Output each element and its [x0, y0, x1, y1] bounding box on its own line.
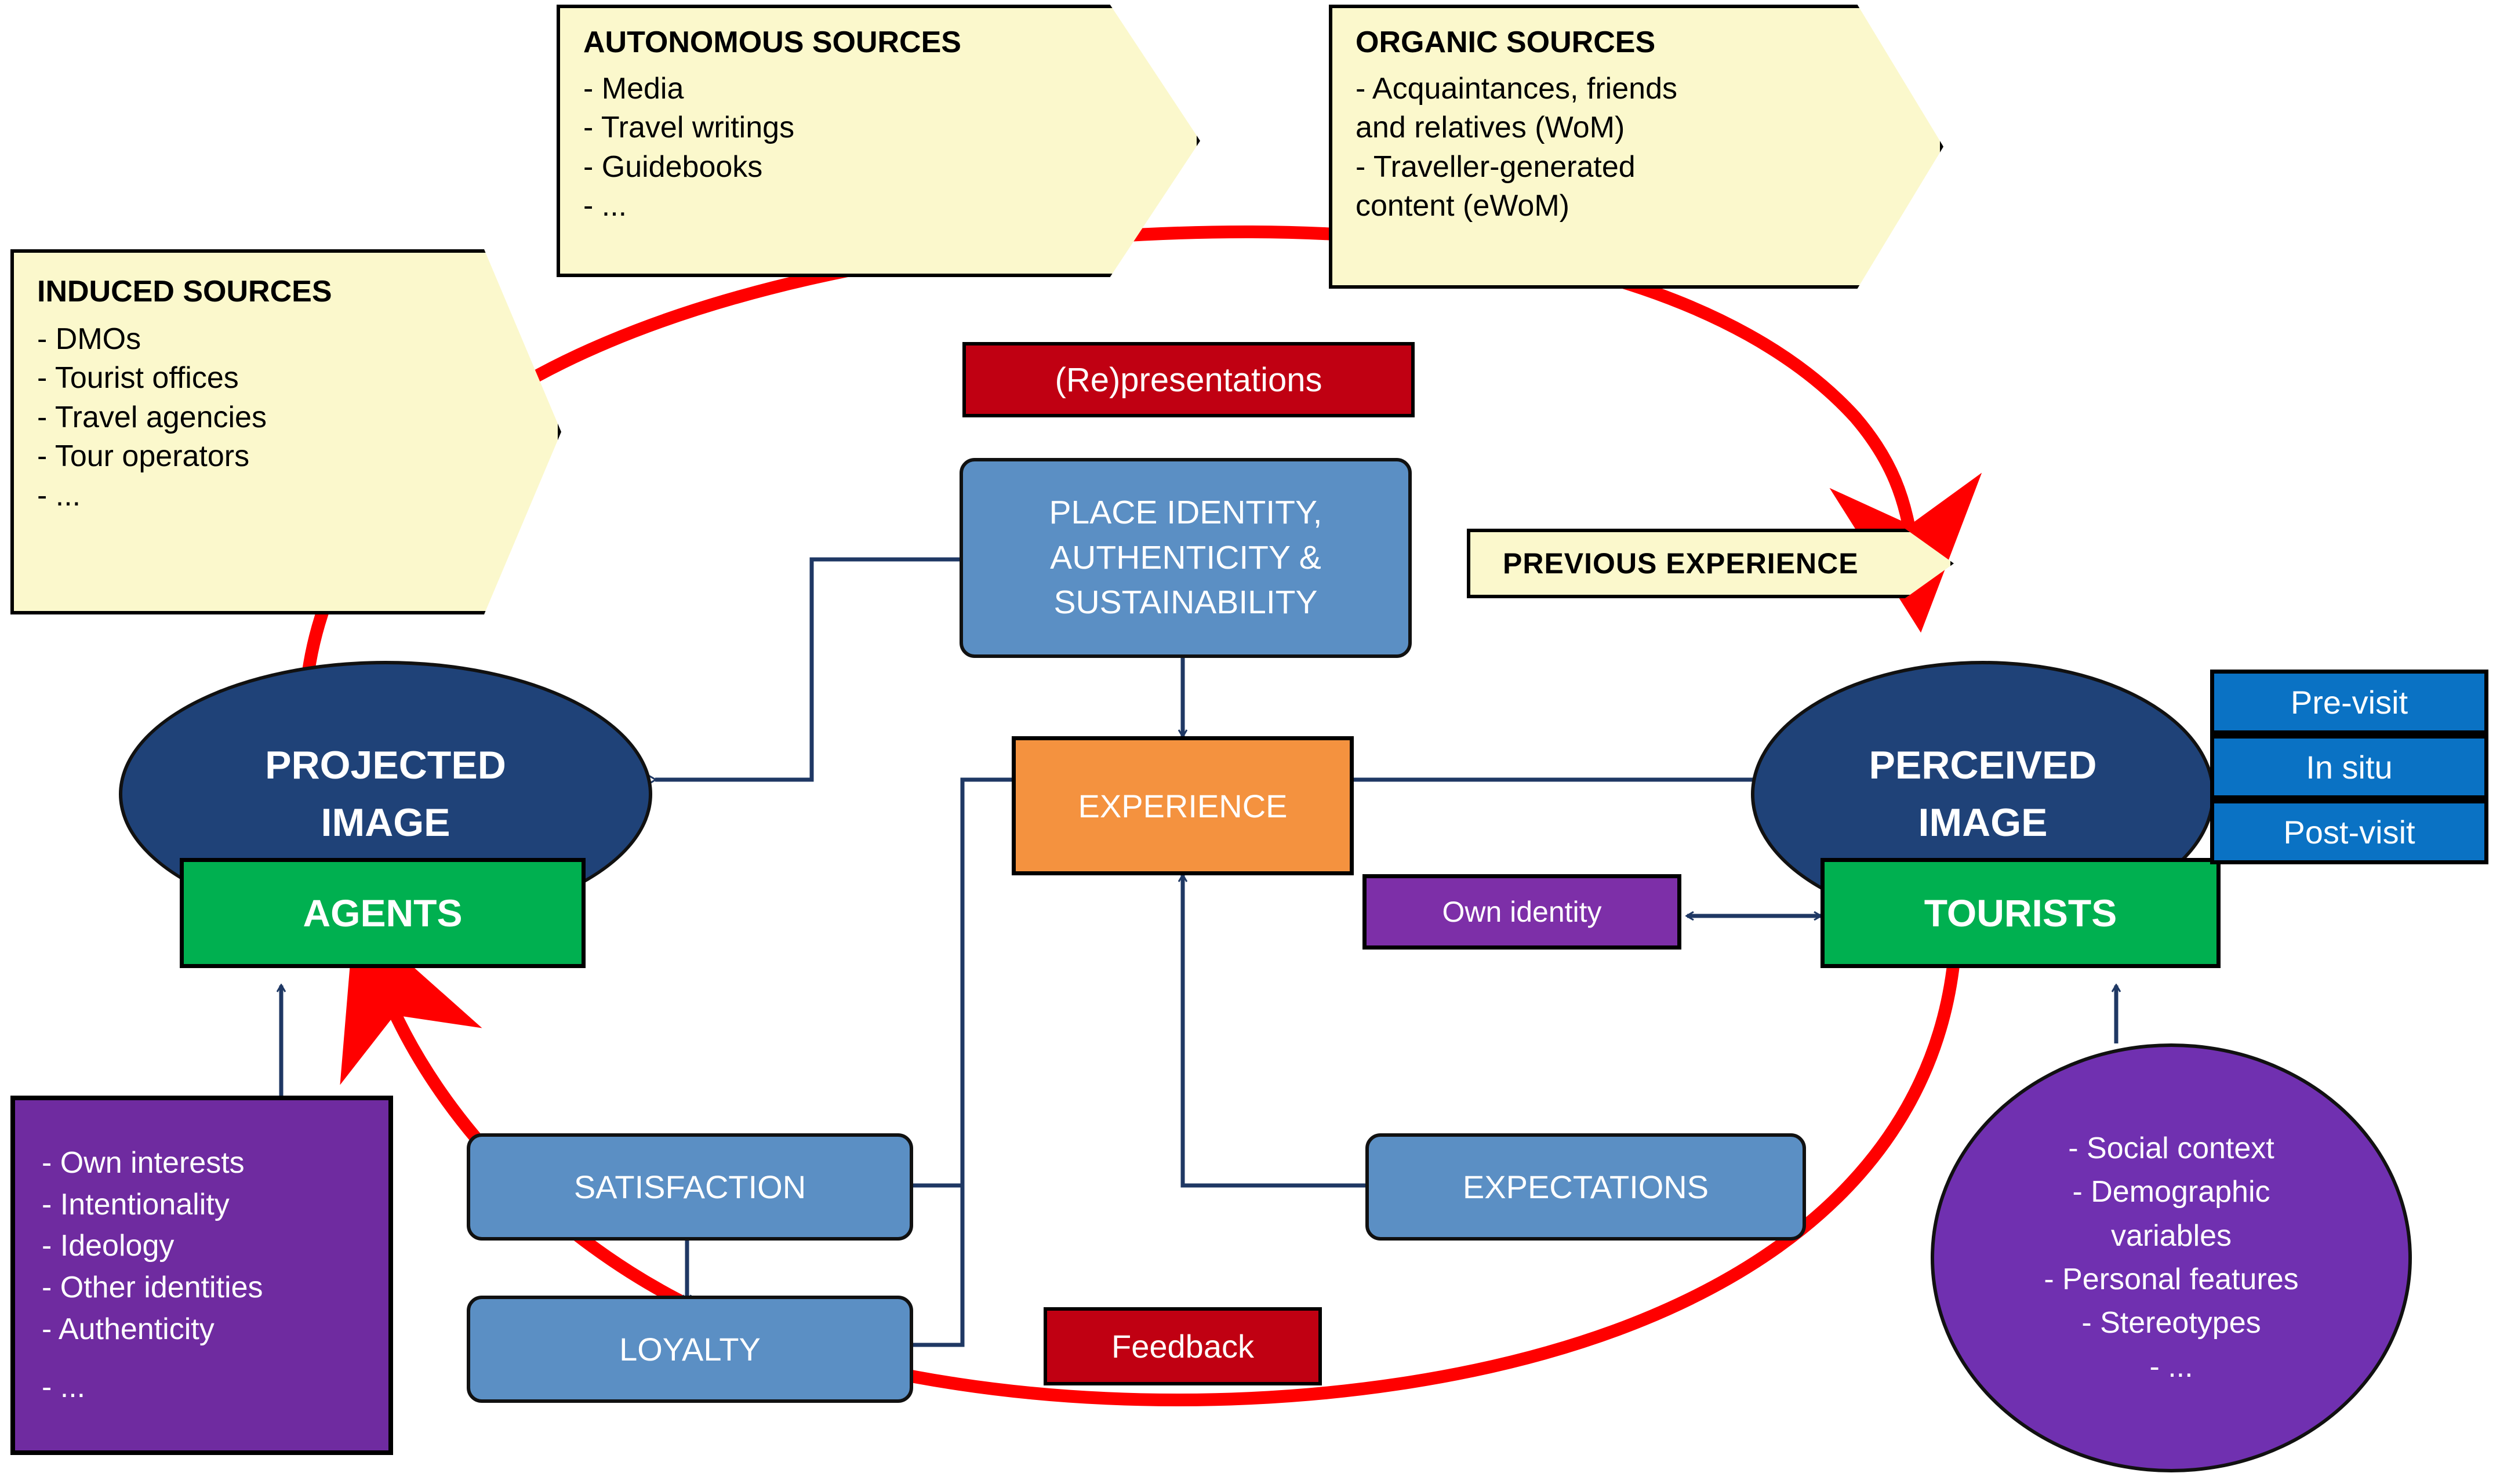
projected-image-line1: PROJECTED: [265, 737, 506, 794]
induced-item: - Travel agencies: [37, 398, 535, 438]
feedback-box: Feedback: [1044, 1307, 1322, 1385]
agent-attribute-item: - Other identities: [42, 1267, 388, 1309]
place-identity-line1: PLACE IDENTITY,: [1049, 490, 1322, 536]
induced-item: - ...: [37, 477, 535, 516]
agent-attribute-item: - Intentionality: [42, 1184, 388, 1226]
visit-stage-in-situ: In situ: [2210, 734, 2488, 799]
tourist-attribute-item: - Demographic: [2072, 1170, 2270, 1214]
induced-item: - Tour operators: [37, 437, 535, 477]
tourist-attributes-ellipse: - Social context - Demographic variables…: [1931, 1043, 2412, 1472]
experience-box: EXPERIENCE: [1012, 736, 1354, 875]
tourist-attribute-item: - Stereotypes: [2081, 1301, 2261, 1345]
organic-item: - Traveller-generated: [1356, 148, 1917, 187]
tourist-attribute-item: variables: [2111, 1214, 2232, 1258]
loyalty-label: LOYALTY: [619, 1330, 761, 1368]
representations-box: (Re)presentations: [962, 342, 1415, 417]
tourist-attribute-item: - Personal features: [2044, 1258, 2298, 1301]
agent-attribute-item: - Own interests: [42, 1143, 388, 1184]
satisfaction-box: SATISFACTION: [467, 1133, 913, 1241]
pre-visit-label: Pre-visit: [2291, 683, 2408, 721]
perceived-image-line2: IMAGE: [1918, 794, 2048, 852]
agent-attribute-item: - ...: [42, 1367, 388, 1409]
autonomous-item: - ...: [583, 187, 1173, 226]
callout-previous-experience: PREVIOUS EXPERIENCE: [1467, 529, 1954, 598]
experience-label: EXPERIENCE: [1078, 787, 1288, 825]
expectations-label: EXPECTATIONS: [1463, 1168, 1709, 1206]
projected-image-line2: IMAGE: [321, 794, 450, 852]
induced-item: - Tourist offices: [37, 359, 535, 398]
organic-sources-heading: ORGANIC SOURCES: [1356, 23, 1655, 63]
induced-sources-heading: INDUCED SOURCES: [37, 272, 332, 312]
tourists-label: TOURISTS: [1924, 891, 2117, 935]
organic-item: content (eWoM): [1356, 187, 1917, 226]
perceived-image-line1: PERCEIVED: [1869, 737, 2097, 794]
organic-item: and relatives (WoM): [1356, 108, 1917, 148]
tourist-attribute-item: - ...: [2149, 1345, 2193, 1389]
in-situ-label: In situ: [2306, 748, 2392, 786]
callout-induced-sources: INDUCED SOURCES - DMOs - Tourist offices…: [10, 249, 561, 614]
feedback-label: Feedback: [1111, 1327, 1254, 1365]
agents-box: AGENTS: [180, 858, 586, 968]
connector-experience-to-loyalty: [913, 780, 962, 1345]
callout-autonomous-sources: AUTONOMOUS SOURCES - Media - Travel writ…: [557, 5, 1200, 277]
representations-label: (Re)presentations: [1055, 361, 1322, 399]
place-identity-box: PLACE IDENTITY, AUTHENTICITY & SUSTAINAB…: [960, 458, 1412, 658]
expectations-box: EXPECTATIONS: [1365, 1133, 1806, 1241]
autonomous-sources-list: - Media - Travel writings - Guidebooks -…: [583, 70, 1173, 226]
autonomous-item: - Media: [583, 70, 1173, 109]
agent-attributes-box: - Own interests - Intentionality - Ideol…: [10, 1096, 393, 1455]
previous-experience-label: PREVIOUS EXPERIENCE: [1503, 547, 1859, 580]
own-identity-box: Own identity: [1362, 874, 1681, 950]
organic-item: - Acquaintances, friends: [1356, 70, 1917, 109]
organic-sources-list: - Acquaintances, friends and relatives (…: [1356, 70, 1917, 226]
place-identity-line3: SUSTAINABILITY: [1053, 580, 1317, 625]
visit-stage-post-visit: Post-visit: [2210, 799, 2488, 864]
induced-sources-list: - DMOs - Tourist offices - Travel agenci…: [37, 320, 535, 516]
connector-expectations-to-experience: [1183, 875, 1365, 1185]
connector-placeidentity-to-projected: [655, 559, 960, 780]
visit-stage-pre-visit: Pre-visit: [2210, 670, 2488, 734]
callout-organic-sources: ORGANIC SOURCES - Acquaintances, friends…: [1329, 5, 1943, 289]
induced-item: - DMOs: [37, 320, 535, 359]
agents-label: AGENTS: [303, 891, 462, 935]
agent-attribute-item: - Ideology: [42, 1225, 388, 1267]
satisfaction-label: SATISFACTION: [574, 1168, 806, 1206]
tourist-attribute-item: - Social context: [2068, 1127, 2274, 1170]
own-identity-label: Own identity: [1442, 895, 1601, 929]
autonomous-item: - Guidebooks: [583, 148, 1173, 187]
autonomous-item: - Travel writings: [583, 108, 1173, 148]
loyalty-box: LOYALTY: [467, 1296, 913, 1403]
agent-attribute-item: - Authenticity: [42, 1309, 388, 1351]
diagram-canvas: INDUCED SOURCES - DMOs - Tourist offices…: [0, 0, 2500, 1484]
place-identity-line2: AUTHENTICITY &: [1050, 536, 1321, 581]
autonomous-sources-heading: AUTONOMOUS SOURCES: [583, 23, 961, 63]
agent-attributes-list: - Own interests - Intentionality - Ideol…: [42, 1143, 388, 1409]
tourists-box: TOURISTS: [1821, 858, 2221, 968]
post-visit-label: Post-visit: [2283, 813, 2415, 851]
